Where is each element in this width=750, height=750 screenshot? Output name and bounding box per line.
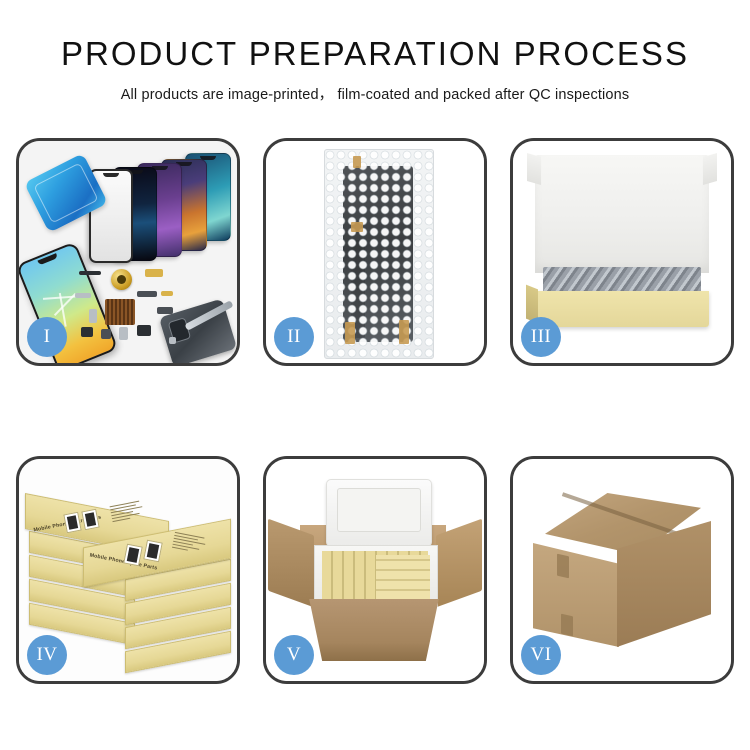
tape-icon: [399, 320, 409, 344]
step-badge-2: II: [274, 317, 314, 357]
process-step-panel-5: V: [263, 456, 487, 684]
notch-icon: [37, 253, 57, 265]
tape-strip-icon: [557, 554, 569, 579]
process-step-panel-4: Mobile Phone Spare Parts Mobile Phone Sp…: [16, 456, 240, 684]
product-preparation-infographic: PRODUCT PREPARATION PROCESS All products…: [0, 0, 750, 750]
step-badge-6: VI: [521, 635, 561, 675]
step-badge-4: IV: [27, 635, 67, 675]
tape-icon: [345, 322, 355, 344]
gold-coil-part-icon: [111, 269, 132, 290]
process-step-panel-6: VI: [510, 456, 734, 684]
carton-flap-right-icon: [436, 519, 482, 608]
box-stack-graphic: Mobile Phone Spare Parts Mobile Phone Sp…: [25, 485, 233, 661]
process-step-panel-2: II: [263, 138, 487, 366]
small-part-icon: [161, 291, 173, 296]
page-title: PRODUCT PREPARATION PROCESS: [0, 36, 750, 72]
bubble-texture-icon: [325, 150, 433, 358]
process-step-panel-1: I: [16, 138, 240, 366]
small-part-icon: [89, 309, 97, 323]
speaker-part-icon: [137, 325, 151, 336]
screw-part-icon: [169, 337, 176, 344]
page-subtitle: All products are image-printed， film-coa…: [0, 83, 750, 104]
gold-bracket-part-icon: [145, 269, 163, 277]
notch-icon: [103, 173, 119, 177]
yellow-box-base-icon: [535, 291, 709, 327]
step-badge-1: I: [27, 317, 67, 357]
gray-bubble-wrap-icon: [543, 267, 701, 293]
process-step-grid: I II III: [16, 138, 734, 684]
bubble-wrap-bag-icon: [324, 149, 434, 359]
carton-flap-left-icon: [268, 519, 314, 608]
tape-strip-icon: [561, 614, 573, 637]
small-part-icon: [119, 327, 128, 340]
connector-part-icon: [137, 291, 157, 297]
step-badge-3: III: [521, 317, 561, 357]
chip-array-icon: [105, 299, 135, 325]
small-part-icon: [157, 307, 173, 314]
small-part-icon: [81, 327, 93, 337]
carton-left-face-icon: [533, 543, 619, 647]
process-step-panel-3: III: [510, 138, 734, 366]
yellow-boxes-row-icon: [376, 555, 430, 599]
small-part-icon: [75, 293, 91, 298]
carton-front-wall-icon: [302, 599, 446, 661]
flex-cable-part-icon: [79, 271, 101, 275]
small-part-icon: [101, 329, 111, 339]
tape-icon: [351, 222, 363, 232]
header: PRODUCT PREPARATION PROCESS All products…: [0, 0, 750, 104]
tape-icon: [353, 156, 361, 168]
white-box-lid-icon: [535, 155, 709, 273]
foam-lid-icon: [326, 479, 432, 547]
step-badge-5: V: [274, 635, 314, 675]
